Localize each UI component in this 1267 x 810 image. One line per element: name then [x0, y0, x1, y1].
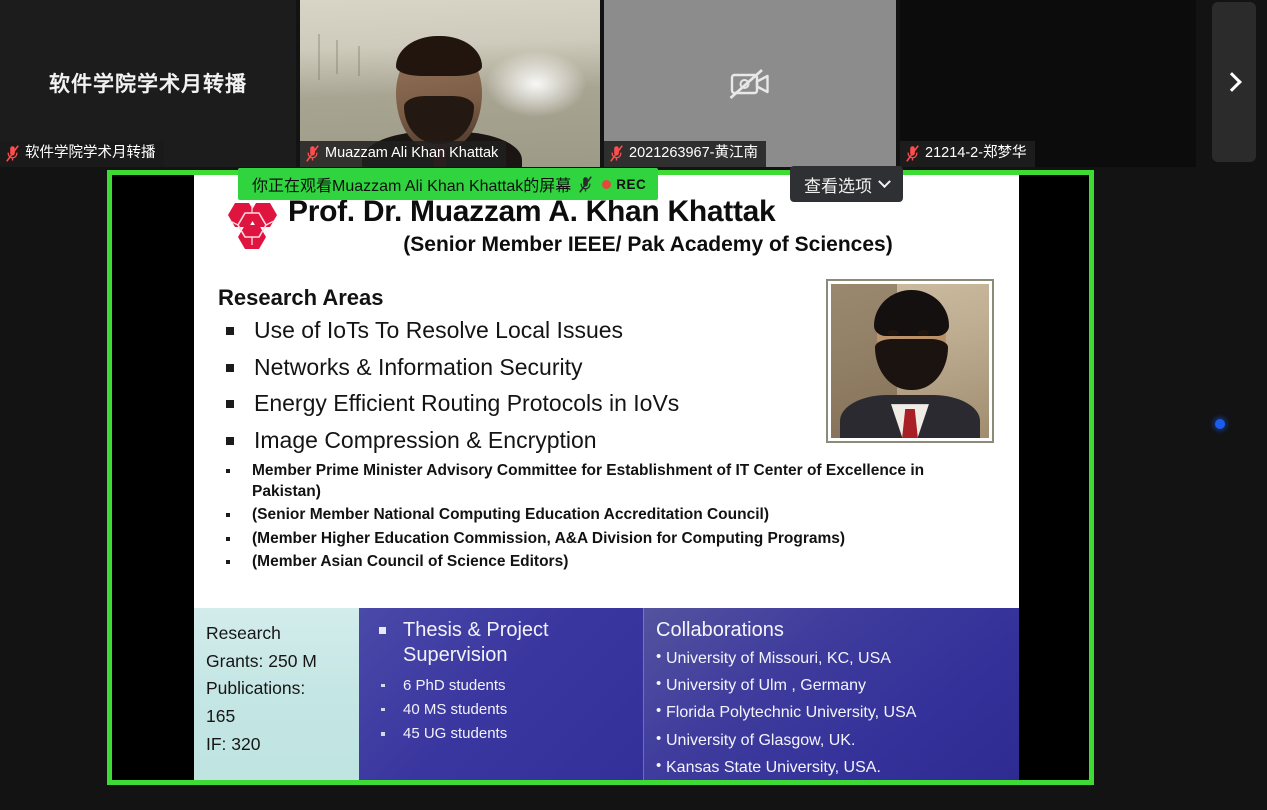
collaborations-panel: Collaborations University of Missouri, K… [644, 608, 1019, 780]
stats-line: Publications: [206, 675, 351, 703]
list-item: Networks & Information Security [218, 352, 778, 383]
list-item: Member Prime Minister Advisory Committee… [218, 461, 978, 502]
video-tile-1-name-badge: 软件学院学术月转播 [0, 141, 164, 167]
video-tile-3-name-badge: 2021263967-黄江南 [604, 141, 766, 167]
list-item: 6 PhD students [365, 674, 635, 698]
mic-off-icon [610, 145, 623, 162]
mic-off-icon [906, 145, 919, 162]
stats-line: 165 [206, 703, 351, 731]
pointer-dot [1215, 419, 1225, 429]
research-areas-list: Use of IoTs To Resolve Local Issues Netw… [218, 315, 778, 461]
stats-line: Research [206, 620, 351, 648]
video-tile-2-name: Muazzam Ali Khan Khattak [325, 146, 498, 161]
shared-screen-frame[interactable]: Prof. Dr. Muazzam A. Khan Khattak (Senio… [107, 170, 1094, 785]
stats-line: IF: 320 [206, 731, 351, 759]
video-tile-1-name: 软件学院学术月转播 [25, 146, 156, 161]
chevron-down-icon [878, 175, 891, 188]
screen-share-banner-text: 你正在观看Muazzam Ali Khan Khattak的屏幕 [252, 172, 571, 196]
video-tile-3-name: 2021263967-黄江南 [629, 146, 758, 161]
collaborations-heading: Collaborations [656, 618, 1011, 642]
list-item: 45 UG students [365, 722, 635, 746]
list-item: (Member Higher Education Commission, A&A… [218, 529, 978, 550]
collaborations-list: University of Missouri, KC, USA Universi… [656, 645, 1011, 780]
recording-indicator-dot [602, 180, 611, 189]
view-options-label: 查看选项 [804, 172, 872, 197]
screen-share-banner: 你正在观看Muazzam Ali Khan Khattak的屏幕 REC [238, 168, 658, 200]
video-tile-2[interactable]: Muazzam Ali Khan Khattak [300, 0, 600, 167]
list-item: University of Glasgow, UK. [656, 727, 1011, 754]
slide-subtitle: (Senior Member IEEE/ Pak Academy of Scie… [288, 233, 1008, 257]
mic-off-icon [6, 145, 19, 162]
video-tile-4-name-badge: 21214-2-郑梦华 [900, 141, 1035, 167]
research-areas-heading: Research Areas [218, 285, 384, 311]
mic-off-icon [306, 145, 319, 162]
list-item: Use of IoTs To Resolve Local Issues [218, 315, 778, 346]
video-tile-4-name: 21214-2-郑梦华 [925, 146, 1027, 161]
list-item: 40 MS students [365, 698, 635, 722]
list-item: (Member Asian Council of Science Editors… [218, 552, 978, 573]
supervision-list: 6 PhD students 40 MS students 45 UG stud… [365, 674, 635, 747]
video-tile-1[interactable]: 软件学院学术月转播 软件学院学术月转播 [0, 0, 296, 167]
participant-video-strip: 软件学院学术月转播 软件学院学术月转播 [0, 0, 1267, 167]
video-tile-3[interactable]: 2021263967-黄江南 [604, 0, 896, 167]
chevron-right-icon [1222, 72, 1242, 92]
portrait-photo [826, 279, 994, 443]
next-participants-button[interactable] [1212, 2, 1256, 162]
recording-label: REC [616, 177, 646, 192]
list-item: University of Ulm , Germany [656, 672, 1011, 699]
list-item: University of Missouri, KC, USA [656, 645, 1011, 672]
video-tile-1-center-label: 软件学院学术月转播 [0, 68, 296, 98]
hexagon-molecule-logo-icon [220, 197, 284, 255]
supervision-panel: Thesis & Project Supervision 6 PhD stude… [359, 608, 644, 780]
list-item: (Senior Member National Computing Educat… [218, 505, 978, 526]
video-tile-4[interactable]: 21214-2-郑梦华 [900, 0, 1196, 167]
bottom-panels: Research Grants: 250 M Publications: 165… [194, 608, 1019, 780]
view-options-dropdown[interactable]: 查看选项 [790, 166, 903, 202]
presentation-slide: Prof. Dr. Muazzam A. Khan Khattak (Senio… [194, 175, 1019, 780]
list-item: Kansas State University, USA. [656, 754, 1011, 780]
list-item: Energy Efficient Routing Protocols in Io… [218, 388, 778, 419]
stats-line: Grants: 250 M [206, 648, 351, 676]
supervision-heading: Thesis & Project Supervision [365, 618, 635, 668]
meeting-window: 软件学院学术月转播 软件学院学术月转播 [0, 0, 1267, 810]
list-item: Florida Polytechnic University, USA [656, 699, 1011, 726]
memberships-list: Member Prime Minister Advisory Committee… [218, 461, 978, 576]
video-tile-2-name-badge: Muazzam Ali Khan Khattak [300, 141, 506, 167]
research-stats-panel: Research Grants: 250 M Publications: 165… [194, 608, 359, 780]
mic-off-icon [579, 176, 592, 193]
list-item: Image Compression & Encryption [218, 425, 778, 456]
